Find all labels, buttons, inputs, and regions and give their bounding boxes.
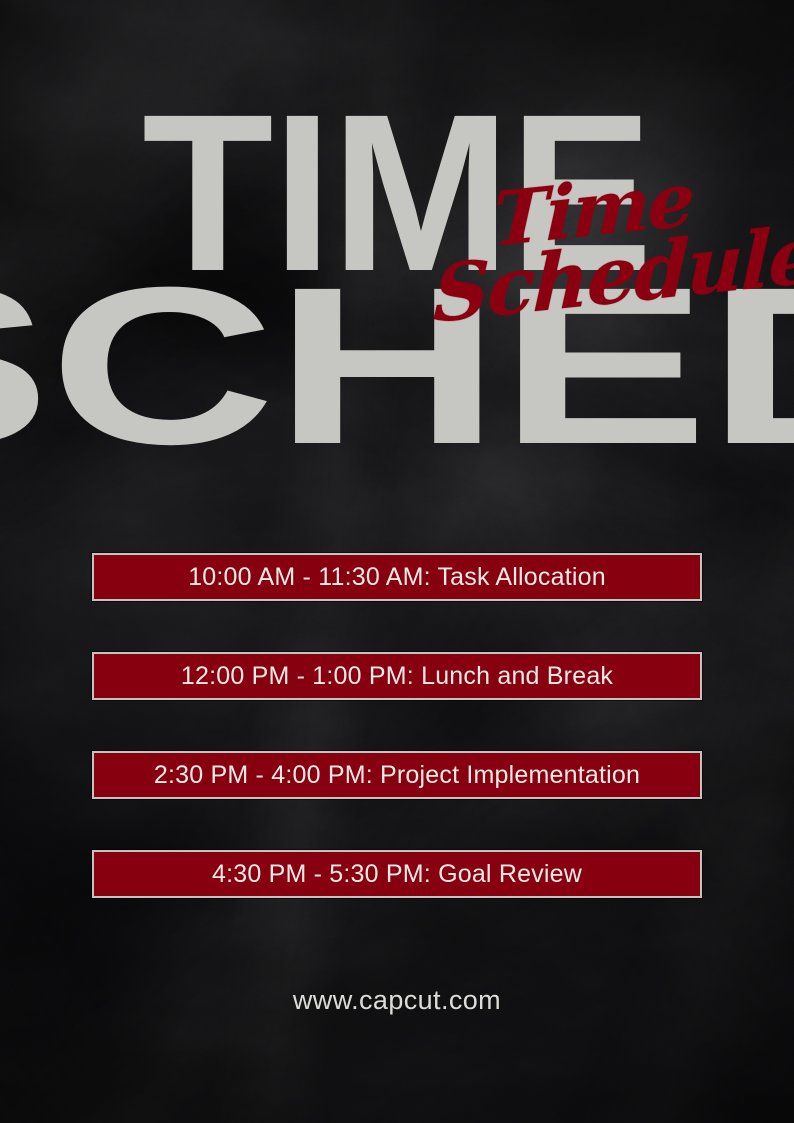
schedule-list: 10:00 AM - 11:30 AM: Task Allocation 12:…	[92, 553, 702, 898]
schedule-item-label: 2:30 PM - 4:00 PM: Project Implementatio…	[154, 761, 640, 790]
schedule-item-1[interactable]: 10:00 AM - 11:30 AM: Task Allocation	[92, 553, 702, 601]
schedule-item-label: 12:00 PM - 1:00 PM: Lunch and Break	[181, 662, 613, 691]
schedule-item-4[interactable]: 4:30 PM - 5:30 PM: Goal Review	[92, 850, 702, 898]
schedule-item-label: 4:30 PM - 5:30 PM: Goal Review	[212, 860, 582, 889]
schedule-item-label: 10:00 AM - 11:30 AM: Task Allocation	[188, 563, 606, 592]
schedule-item-3[interactable]: 2:30 PM - 4:00 PM: Project Implementatio…	[92, 751, 702, 799]
time-schedule-poster: TIME SCHEDULE Time Schedule 10:00 AM - 1…	[0, 0, 794, 1123]
schedule-item-2[interactable]: 12:00 PM - 1:00 PM: Lunch and Break	[92, 652, 702, 700]
footer-website[interactable]: www.capcut.com	[0, 985, 794, 1016]
